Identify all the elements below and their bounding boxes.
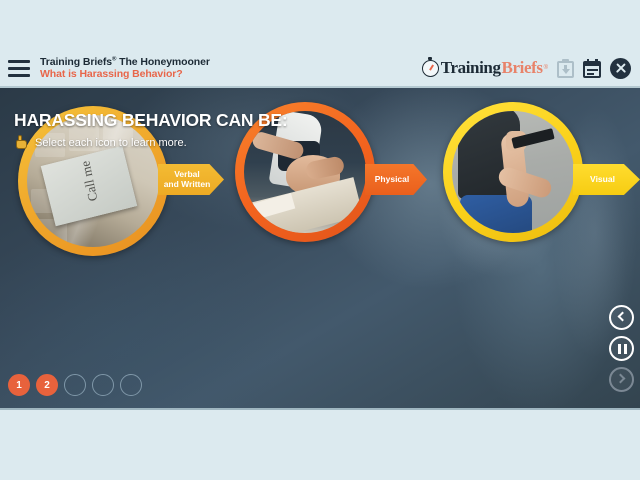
pagination-dot-1[interactable]: 1: [8, 374, 30, 396]
hamburger-bar: [8, 74, 30, 77]
notes-peg-right: [595, 59, 598, 63]
pagination-dot-3[interactable]: 3: [64, 374, 86, 396]
slide-heading: HARASSING BEHAVIOR CAN BE:: [14, 110, 288, 131]
chevron-left-icon: [618, 312, 628, 322]
node-label-visual[interactable]: Visual: [573, 164, 640, 195]
node-label-physical[interactable]: Physical: [365, 164, 427, 195]
hand-palm: [16, 140, 27, 149]
slide-instruction: Select each icon to learn more.: [14, 135, 187, 150]
slide-instruction-text: Select each icon to learn more.: [35, 137, 187, 149]
header-actions: TrainingBriefs®: [422, 58, 631, 79]
notes-peg-left: [587, 59, 590, 63]
pause-button[interactable]: [609, 336, 634, 361]
header-titles: Training Briefs® The Honeymooner What is…: [40, 56, 422, 80]
hamburger-bar: [8, 60, 30, 63]
notes-icon[interactable]: [583, 59, 601, 78]
course-title-text: Training Briefs: [40, 56, 112, 68]
node-label-lines: Physical: [375, 175, 410, 185]
brand-word-training: Training: [441, 58, 501, 78]
notes-line: [587, 73, 594, 75]
behavior-node-visual[interactable]: [443, 102, 583, 242]
pagination-dot-2[interactable]: 2: [36, 374, 58, 396]
behavior-photo-visual: [452, 111, 574, 233]
brand-registered-mark: ®: [544, 65, 548, 71]
pause-bar: [618, 344, 621, 354]
pagination: 1 2 3 4 5: [8, 374, 142, 396]
pagination-dot-4[interactable]: 4: [92, 374, 114, 396]
download-icon[interactable]: [557, 59, 574, 78]
hamburger-bar: [8, 67, 30, 70]
pause-icon: [618, 344, 627, 354]
pause-bar: [624, 344, 627, 354]
stopwatch-icon: [422, 60, 439, 77]
node-label-verbal-and-written[interactable]: Verbal and Written: [158, 164, 224, 195]
course-player: Training Briefs® The Honeymooner What is…: [0, 0, 640, 480]
node-label-line-1: Physical: [375, 175, 410, 185]
node-label-lines: Verbal and Written: [164, 170, 211, 189]
pagination-dot-5[interactable]: 5: [120, 374, 142, 396]
slide-stage: HARASSING BEHAVIOR CAN BE: Select each i…: [0, 88, 640, 410]
node-label-lines: Visual: [590, 175, 615, 185]
node-label-line-2: and Written: [164, 180, 211, 190]
brand-word-briefs: Briefs: [502, 58, 543, 78]
trainingbriefs-logo: TrainingBriefs®: [422, 58, 548, 78]
notes-topbar: [585, 63, 599, 66]
download-arrow-head: [562, 69, 570, 74]
player-header: Training Briefs® The Honeymooner What is…: [0, 50, 640, 88]
playback-controls: [609, 305, 634, 392]
node-label-line-1: Visual: [590, 175, 615, 185]
close-icon[interactable]: [610, 58, 631, 79]
lesson-title: What is Harassing Behavior?: [40, 68, 422, 80]
previous-button[interactable]: [609, 305, 634, 330]
chevron-right-icon: [615, 374, 625, 384]
next-button[interactable]: [609, 367, 634, 392]
course-title-tail: The Honeymooner: [116, 56, 210, 68]
pointing-hand-icon: [14, 135, 29, 150]
notes-line: [587, 69, 598, 71]
hamburger-menu-icon[interactable]: [8, 60, 30, 77]
course-title: Training Briefs® The Honeymooner: [40, 56, 422, 68]
